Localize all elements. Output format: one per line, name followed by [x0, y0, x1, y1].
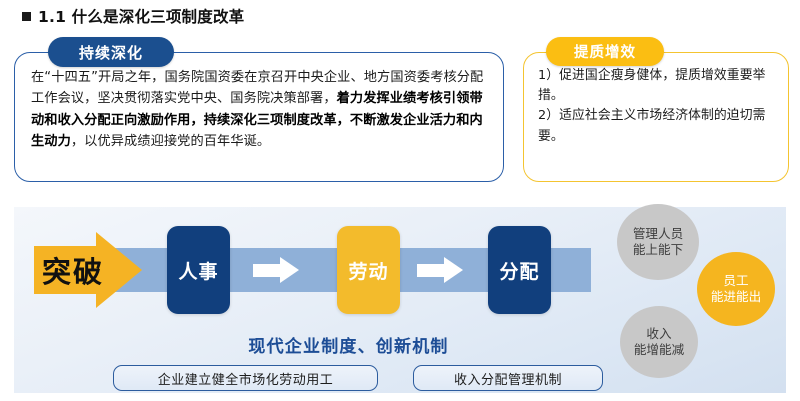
flow-heading: 现代企业制度、创新机制	[106, 332, 591, 357]
circle-staff-line1: 员工	[723, 273, 748, 289]
badge-quality-efficiency: 提质增效	[546, 37, 664, 66]
breakthrough-arrow: 突破	[34, 232, 142, 308]
circle-management-line2: 能上能下	[633, 242, 683, 258]
flow-arrow-1-shaft	[253, 264, 283, 277]
card-quality-efficiency: 1）促进国企瘦身健体，提质增效重要举措。 2）适应社会主义市场经济体制的迫切需要…	[523, 52, 789, 182]
card-right-item-1: 1）促进国企瘦身健体，提质增效重要举措。	[538, 66, 778, 106]
slide-canvas: 1.1 什么是深化三项制度改革 在“十四五”开局之年，国务院国资委在京召开中央企…	[0, 0, 800, 401]
stage-box-labor[interactable]: 劳动	[337, 226, 400, 314]
flow-arrow-1-icon	[253, 257, 299, 283]
stage-box-distribution[interactable]: 分配	[488, 226, 551, 314]
circle-management-line1: 管理人员	[633, 226, 683, 242]
circle-income-line2: 能增能减	[634, 342, 684, 358]
card-left-body: 在“十四五”开局之年，国务院国资委在京召开中央企业、地方国资委考核分配工作会议，…	[15, 53, 503, 153]
breakthrough-label: 突破	[38, 249, 108, 291]
pill-labor-employment[interactable]: 企业建立健全市场化劳动用工	[113, 365, 378, 391]
circle-management[interactable]: 管理人员 能上能下	[617, 204, 699, 280]
flow-arrow-2-icon	[417, 257, 463, 283]
card-left-text-tail: ，以优异成绩迎接党的百年华诞。	[71, 134, 270, 149]
card-right-body: 1）促进国企瘦身健体，提质增效重要举措。 2）适应社会主义市场经济体制的迫切需要…	[524, 53, 788, 147]
badge-continuous-deepening: 持续深化	[48, 37, 174, 67]
card-right-item-2: 2）适应社会主义市场经济体制的迫切需要。	[538, 106, 778, 146]
pill-income-distribution[interactable]: 收入分配管理机制	[413, 365, 603, 391]
circle-staff-line2: 能进能出	[711, 289, 761, 305]
flow-arrow-2-shaft	[417, 264, 447, 277]
stage-box-personnel[interactable]: 人事	[167, 226, 230, 314]
page-title-text: 1.1 什么是深化三项制度改革	[38, 5, 244, 27]
flow-arrow-1-head	[280, 257, 299, 283]
circle-income-line1: 收入	[646, 326, 671, 342]
circle-staff[interactable]: 员工 能进能出	[697, 252, 775, 326]
flow-arrow-2-head	[444, 257, 463, 283]
square-bullet-icon	[22, 12, 31, 21]
page-title: 1.1 什么是深化三项制度改革	[22, 5, 244, 27]
card-continuous-deepening: 在“十四五”开局之年，国务院国资委在京召开中央企业、地方国资委考核分配工作会议，…	[14, 52, 504, 182]
circle-income[interactable]: 收入 能增能减	[620, 306, 698, 378]
